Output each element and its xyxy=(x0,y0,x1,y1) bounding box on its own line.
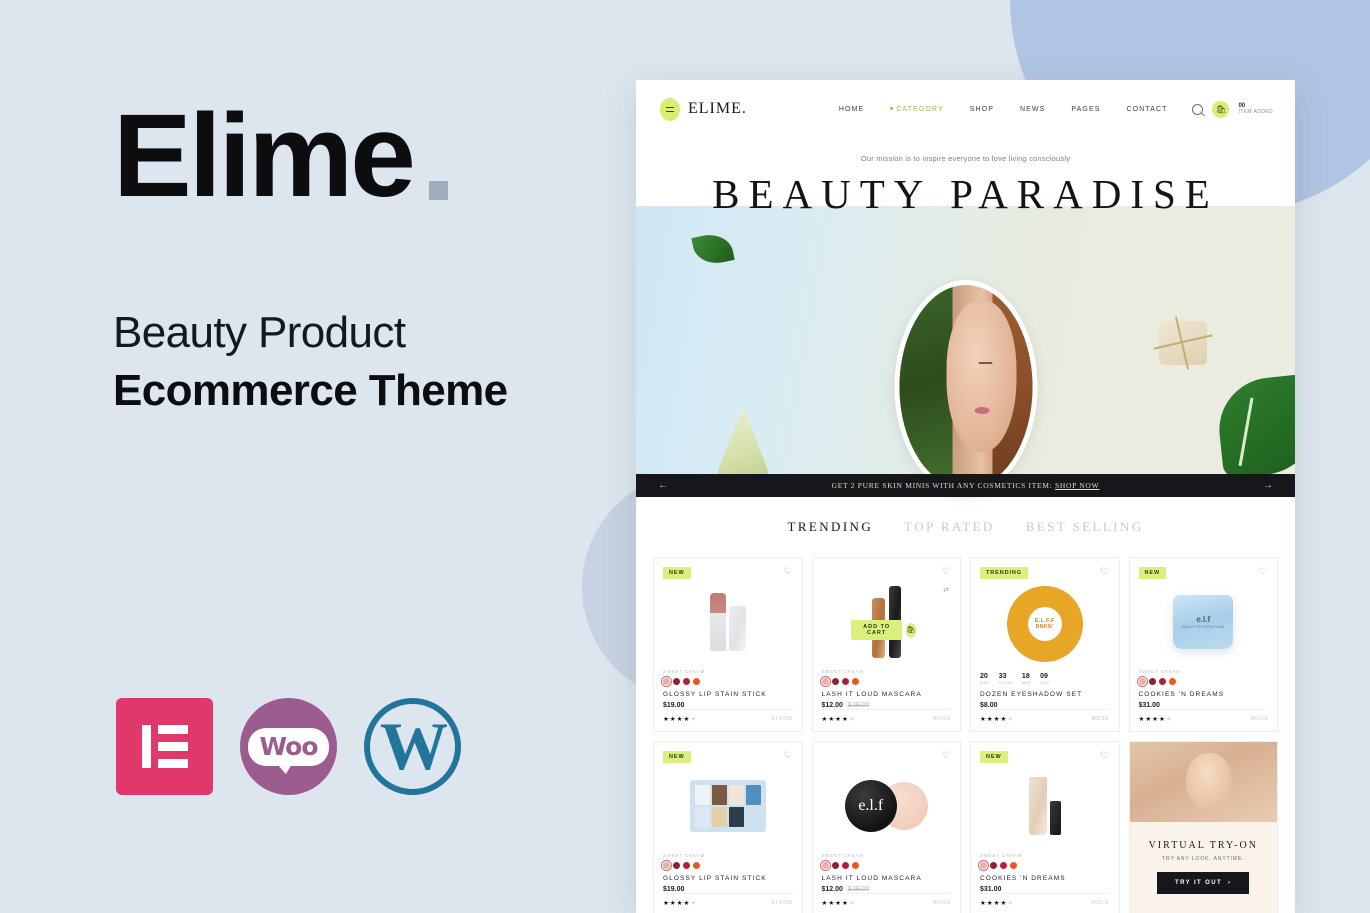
product-card[interactable]: NEW ♡ e.l.fDAILY HYDRATION SWEET CREAM C… xyxy=(1129,557,1279,732)
announcement-text: GET 2 PURE SKIN MINIS WITH ANY COSMETICS… xyxy=(668,481,1263,490)
color-swatches[interactable] xyxy=(980,862,1110,869)
product-brandline: SWEET CREAM xyxy=(1139,669,1269,674)
color-swatches[interactable] xyxy=(822,678,952,685)
product-card-footer: ★★★★★ HOLO xyxy=(1139,709,1269,723)
site-header: ELIME. HOME CATEGORY SHOP NEWS PAGES CON… xyxy=(636,80,1295,138)
countdown-secs: 09 xyxy=(1040,673,1050,680)
product-card-footer: ★★★★★ MOSE xyxy=(980,709,1110,723)
woo-label: Woo xyxy=(259,734,317,759)
countdown-days-label: DAY xyxy=(980,680,990,685)
tryon-title: VIRTUAL TRY-ON xyxy=(1149,840,1258,851)
arrow-right-icon[interactable]: → xyxy=(1263,481,1273,491)
arrow-left-icon[interactable]: ← xyxy=(658,481,668,491)
price-current: $31.00 xyxy=(1139,702,1160,709)
tab-top-rated[interactable]: TOP RATED xyxy=(904,519,995,535)
product-vendor: HOLO xyxy=(1251,716,1268,722)
color-swatches[interactable] xyxy=(822,862,952,869)
price-current: $8.00 xyxy=(980,702,998,709)
site-logo-text: ELIME. xyxy=(688,100,747,118)
wishlist-heart-icon[interactable]: ♡ xyxy=(1100,751,1108,760)
nav-item-home[interactable]: HOME xyxy=(839,106,864,113)
portrait-palm-leaf xyxy=(899,285,952,489)
product-image xyxy=(980,765,1110,847)
product-price: $19.00 xyxy=(663,886,793,893)
status-badge: TRENDING xyxy=(980,567,1028,579)
main-nav: HOME CATEGORY SHOP NEWS PAGES CONTACT xyxy=(839,106,1168,113)
tryon-subtitle: TRY ANY LOOK, ANYTIME. xyxy=(1162,856,1244,862)
announcement-message: GET 2 PURE SKIN MINIS WITH ANY COSMETICS… xyxy=(832,481,1053,490)
site-logo[interactable]: ELIME. xyxy=(660,98,747,121)
countdown-mins-label: MIN xyxy=(1022,680,1031,685)
products-section: TRENDING TOP RATED BEST SELLING NEW ♡ SW… xyxy=(636,497,1295,913)
nav-item-shop[interactable]: SHOP xyxy=(970,106,994,113)
page-title: Elime xyxy=(113,100,600,212)
product-price: $12.00 $29.00 xyxy=(822,702,952,709)
product-brandline: SWEET CREAM xyxy=(822,853,952,858)
rating-stars: ★★★★★ xyxy=(980,715,1014,723)
promo-subtitle-line1: Beauty Product xyxy=(113,304,600,362)
nav-item-contact[interactable]: CONTACT xyxy=(1126,106,1167,113)
product-image: E.L.F.F DNKN' xyxy=(980,581,1110,667)
wishlist-heart-icon[interactable]: ♡ xyxy=(942,751,950,760)
product-card-footer: ★★★★★ ROSA xyxy=(822,893,952,907)
add-to-cart-button[interactable]: ADD TO CART xyxy=(851,620,902,640)
try-it-out-button[interactable]: TRY IT OUT › xyxy=(1157,872,1249,894)
product-image: e.l.f xyxy=(822,765,952,847)
price-current: $12.00 xyxy=(822,702,843,709)
wishlist-heart-icon[interactable]: ♡ xyxy=(1100,567,1108,576)
product-brandline: SWEET CREAM xyxy=(663,669,793,674)
color-swatches[interactable] xyxy=(1139,678,1269,685)
wishlist-heart-icon[interactable]: ♡ xyxy=(1259,567,1267,576)
elementor-icon xyxy=(116,698,213,795)
product-price: $12.00 $29.00 xyxy=(822,886,952,893)
product-price: $31.00 xyxy=(980,886,1110,893)
countdown-secs-label: SEC xyxy=(1040,680,1050,685)
tryon-content: VIRTUAL TRY-ON TRY ANY LOOK, ANYTIME. TR… xyxy=(1130,822,1278,913)
product-image xyxy=(663,581,793,663)
product-vendor: HOLO xyxy=(1092,900,1109,906)
product-price: $8.00 xyxy=(980,702,1110,709)
product-name: LASH IT LOUD MASCARA xyxy=(822,691,952,698)
status-badge: NEW xyxy=(663,567,691,579)
product-card[interactable]: ♡ ⇄ ADD TO CART 🛍 SWEET CREAM LASH IT LO… xyxy=(812,557,962,732)
product-card-footer: ★★★★★ ELFON xyxy=(663,709,793,723)
rating-stars: ★★★★★ xyxy=(1139,715,1173,723)
product-tabs: TRENDING TOP RATED BEST SELLING xyxy=(636,519,1295,535)
announcement-link[interactable]: SHOP NOW xyxy=(1055,481,1099,490)
product-name: GLOSSY LIP STAIN STICK xyxy=(663,875,793,882)
countdown-hours: 33 xyxy=(999,673,1013,680)
product-name: DOZEN EYESHADOW SET xyxy=(980,691,1110,698)
virtual-tryon-card[interactable]: VIRTUAL TRY-ON TRY ANY LOOK, ANYTIME. TR… xyxy=(1129,741,1279,913)
wordpress-letter: W xyxy=(380,718,445,775)
try-it-out-label: TRY IT OUT xyxy=(1175,880,1222,886)
add-to-cart-group: ADD TO CART 🛍 xyxy=(851,620,916,640)
product-card[interactable]: ♡ e.l.f SWEET CREAM LASH IT LOUD MASCARA… xyxy=(812,741,962,913)
product-name: COOKIES 'N DREAMS xyxy=(980,875,1110,882)
countdown-mins: 18 xyxy=(1022,673,1031,680)
product-card[interactable]: TRENDING ♡ E.L.F.F DNKN' 20DAY 33HOUR 18… xyxy=(970,557,1120,732)
status-badge: NEW xyxy=(1139,567,1167,579)
product-vendor: ROSA xyxy=(934,716,951,722)
brand-dot-icon xyxy=(429,181,448,200)
product-name: COOKIES 'N DREAMS xyxy=(1139,691,1269,698)
tryon-model-photo xyxy=(1130,742,1278,822)
woocommerce-icon: Woo xyxy=(240,698,337,795)
wishlist-heart-icon[interactable]: ♡ xyxy=(783,751,791,760)
price-current: $12.00 xyxy=(822,886,843,893)
rating-stars: ★★★★★ xyxy=(663,715,697,723)
product-vendor: ELFON xyxy=(772,716,793,722)
rating-stars: ★★★★★ xyxy=(822,715,856,723)
product-grid-row-2: NEW ♡ SWEET CREAM GLOSSY LIP STAIN STICK… xyxy=(636,741,1295,913)
price-current: $19.00 xyxy=(663,886,684,893)
product-name: LASH IT LOUD MASCARA xyxy=(822,875,952,882)
price-original: $29.00 xyxy=(848,886,869,893)
product-vendor: ELFON xyxy=(772,900,793,906)
countdown-timer: 20DAY 33HOUR 18MIN 09SEC xyxy=(980,673,1110,685)
cart-label: ITEM ADDED xyxy=(1238,110,1273,116)
product-card-footer: ★★★★★ ELFON xyxy=(663,893,793,907)
status-badge: NEW xyxy=(980,751,1008,763)
countdown-hours-label: HOUR xyxy=(999,680,1013,685)
tab-best-selling[interactable]: BEST SELLING xyxy=(1026,519,1144,535)
nav-item-pages[interactable]: PAGES xyxy=(1071,106,1100,113)
product-brandline: SWEET CREAM xyxy=(822,669,952,674)
rating-stars: ★★★★★ xyxy=(663,899,697,907)
countdown-days: 20 xyxy=(980,673,990,680)
brand-name: Elime xyxy=(113,100,413,212)
promo-panel: Elime Beauty Product Ecommerce Theme Woo… xyxy=(0,0,600,913)
wordpress-icon: W xyxy=(364,698,461,795)
product-brandline: SWEET CREAM xyxy=(980,853,1110,858)
hero-title: BEAUTY PARADISE xyxy=(636,174,1295,215)
platform-logos: Woo W xyxy=(116,698,461,795)
nav-item-category[interactable]: CATEGORY xyxy=(890,106,943,113)
hero-portrait-image xyxy=(894,280,1037,494)
product-card[interactable]: NEW ♡ SWEET CREAM GLOSSY LIP STAIN STICK… xyxy=(653,741,803,913)
cart-status: 00 ITEM ADDED xyxy=(1238,103,1273,116)
product-image: ADD TO CART 🛍 xyxy=(822,581,952,663)
price-current: $31.00 xyxy=(980,886,1001,893)
hero-section: Our mission is to inspire everyone to lo… xyxy=(636,138,1295,474)
rating-stars: ★★★★★ xyxy=(980,899,1014,907)
product-vendor: ROSA xyxy=(934,900,951,906)
donut-text-2: DNKN' xyxy=(1036,624,1054,630)
promo-subtitle-line2: Ecommerce Theme xyxy=(113,362,600,420)
chevron-right-icon: › xyxy=(1228,880,1231,886)
color-swatches[interactable] xyxy=(663,862,793,869)
rating-stars: ★★★★★ xyxy=(822,899,856,907)
price-original: $29.00 xyxy=(848,702,869,709)
compare-icon[interactable]: ⇄ xyxy=(943,586,949,594)
header-actions: 🛍 00 ITEM ADDED xyxy=(1192,101,1273,118)
product-card-footer: ★★★★★ ROSA xyxy=(822,709,952,723)
nav-item-category-label: CATEGORY xyxy=(896,106,943,113)
shopping-bag-icon[interactable]: 🛍 xyxy=(1212,101,1229,118)
active-dot-icon xyxy=(890,107,893,110)
product-image xyxy=(663,765,793,847)
status-badge: NEW xyxy=(663,751,691,763)
hero-tagline: Our mission is to inspire everyone to lo… xyxy=(636,138,1295,163)
tab-trending[interactable]: TRENDING xyxy=(788,519,874,535)
wishlist-heart-icon[interactable]: ♡ xyxy=(942,567,950,576)
product-card[interactable]: NEW ♡ SWEET CREAM COOKIES 'N DREAMS $31.… xyxy=(970,741,1120,913)
product-brandline: SWEET CREAM xyxy=(663,853,793,858)
product-card[interactable]: NEW ♡ SWEET CREAM GLOSSY LIP STAIN STICK… xyxy=(653,557,803,732)
wishlist-heart-icon[interactable]: ♡ xyxy=(783,567,791,576)
search-icon[interactable] xyxy=(1192,104,1203,115)
product-price: $31.00 xyxy=(1139,702,1269,709)
product-vendor: MOSE xyxy=(1092,716,1110,722)
product-grid-row-1: NEW ♡ SWEET CREAM GLOSSY LIP STAIN STICK… xyxy=(636,557,1295,732)
portrait-face xyxy=(947,301,1016,452)
product-image: e.l.fDAILY HYDRATION xyxy=(1139,581,1269,663)
product-name: GLOSSY LIP STAIN STICK xyxy=(663,691,793,698)
announcement-bar: ← GET 2 PURE SKIN MINIS WITH ANY COSMETI… xyxy=(636,474,1295,497)
price-current: $19.00 xyxy=(663,702,684,709)
product-price: $19.00 xyxy=(663,702,793,709)
nav-item-news[interactable]: NEWS xyxy=(1020,106,1045,113)
color-swatches[interactable] xyxy=(663,678,793,685)
product-card-footer: ★★★★★ HOLO xyxy=(980,893,1110,907)
gift-soap-decoration xyxy=(1159,321,1207,365)
elime-leaf-icon xyxy=(660,98,680,121)
website-preview: ELIME. HOME CATEGORY SHOP NEWS PAGES CON… xyxy=(636,80,1295,913)
quick-cart-icon[interactable]: 🛍 xyxy=(906,623,916,638)
